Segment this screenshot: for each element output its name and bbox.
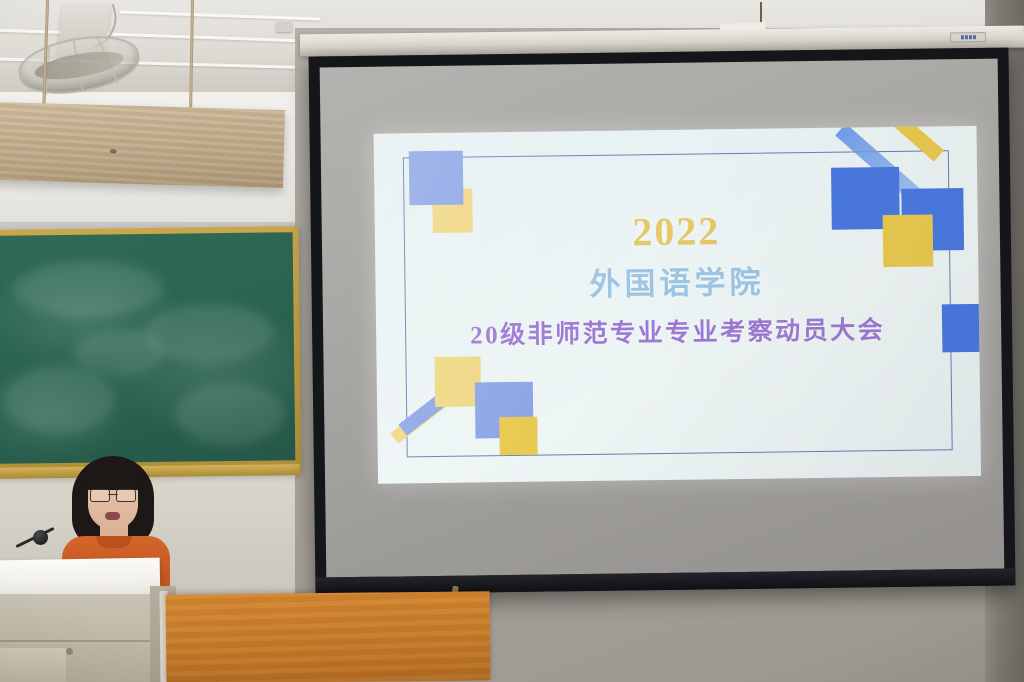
- slide-year: 2022: [375, 204, 979, 259]
- screen-surface: 2022 外国语学院 20级非师范专业专业考察动员大会: [320, 59, 1005, 578]
- glasses-icon: [90, 489, 136, 500]
- desk-left: [0, 648, 66, 682]
- podium-seam: [0, 640, 156, 642]
- presentation-slide: 2022 外国语学院 20级非师范专业专业考察动员大会: [374, 126, 982, 484]
- mouth: [105, 512, 120, 520]
- slide-college: 外国语学院: [375, 254, 979, 307]
- decor-square-blue-topleft: [409, 151, 464, 206]
- roller-label: [950, 32, 986, 42]
- classroom-photo-scene: 2022 外国语学院 20级非师范专业专业考察动员大会: [0, 0, 1024, 682]
- projection-screen: 2022 外国语学院 20级非师范专业专业考察动员大会: [309, 47, 1016, 594]
- podium-knob: [66, 648, 73, 655]
- blackboard: [0, 226, 301, 476]
- ceiling-clip: [276, 22, 292, 32]
- foreground-wood-panel: [166, 591, 491, 682]
- hair-fringe: [82, 462, 144, 490]
- microphone-icon: [33, 530, 48, 545]
- decor-square-yellow-small-bottomleft: [499, 417, 537, 455]
